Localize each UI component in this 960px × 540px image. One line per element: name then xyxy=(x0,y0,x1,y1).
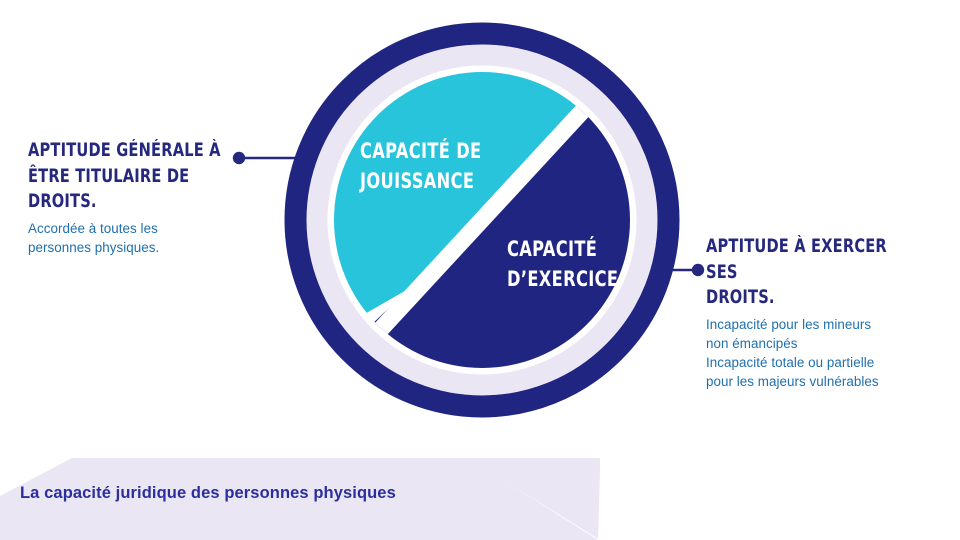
callout-right-body: Incapacité pour les mineurs non émancipé… xyxy=(706,315,944,391)
callout-left-body: Accordée à toutes les personnes physique… xyxy=(28,219,258,257)
connector-dot-right xyxy=(692,264,704,276)
callout-right: APTITUDE À EXERCER SES DROITS. Incapacit… xyxy=(706,234,944,391)
slice-label-jouissance: CAPACITÉ DE JOUISSANCE xyxy=(360,136,482,197)
slice-label-exercice: CAPACITÉ D’EXERCICE xyxy=(507,234,618,295)
caption-title: La capacité juridique des personnes phys… xyxy=(20,484,396,503)
callout-right-title: APTITUDE À EXERCER SES DROITS. xyxy=(706,234,915,311)
slide-canvas: CAPACITÉ DE JOUISSANCE CAPACITÉ D’EXERCI… xyxy=(0,0,960,540)
callout-left: APTITUDE GÉNÉRALE À ÊTRE TITULAIRE DE DR… xyxy=(28,138,258,257)
callout-left-title: APTITUDE GÉNÉRALE À ÊTRE TITULAIRE DE DR… xyxy=(28,138,230,215)
